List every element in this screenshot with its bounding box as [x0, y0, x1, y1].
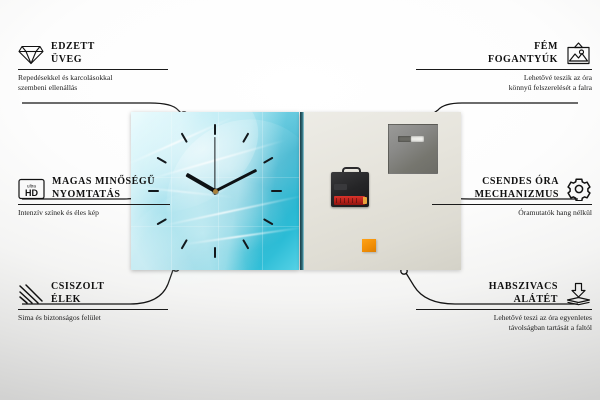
- clock-minute-hand: [214, 169, 256, 193]
- divider: [416, 309, 592, 310]
- divider: [18, 204, 170, 205]
- clock-hour-hand: [185, 173, 216, 193]
- callout-desc: Repedésekkel és karcolásokkal szembeni e…: [18, 73, 168, 92]
- clock-tick: [263, 157, 274, 164]
- callout-polished-edges: CSISZOLT ÉLEK Sima és biztonságos felüle…: [18, 281, 168, 323]
- callout-silent-mechanism: CSENDES ÓRA MECHANIZMUS Óramutatók hang …: [432, 176, 592, 218]
- glass-edge: [300, 112, 304, 270]
- clock-tick: [156, 157, 167, 164]
- callout-title: FÉM FOGANTYÚK: [488, 41, 558, 66]
- callout-desc: Lehetővé teszik az óra könnyű felszerelé…: [416, 73, 592, 92]
- callout-foam-spacer: HABSZIVACS ALÁTÉT Lehetővé teszi az óra …: [416, 281, 592, 332]
- callout-desc: Óramutatók hang nélkül: [432, 208, 592, 218]
- clock-tick: [181, 132, 188, 143]
- divider: [18, 309, 168, 310]
- callout-metal-handles: FÉM FOGANTYÚK Lehetővé teszik az óra kön…: [416, 41, 592, 92]
- hanging-picture-frame-icon: [565, 42, 592, 66]
- callout-high-quality-print: ultra HD MAGAS MINŐSÉGŰ NYOMTATÁS Intenz…: [18, 176, 170, 218]
- callout-title: CSISZOLT ÉLEK: [51, 281, 105, 306]
- quartz-clock-mechanism: [331, 167, 369, 207]
- clock-tick: [263, 218, 274, 225]
- metal-hanger-plate: [388, 124, 438, 174]
- clock-tick: [181, 239, 188, 250]
- battery-label: [336, 198, 360, 203]
- infographic-canvas: EDZETT ÜVEG Repedésekkel és karcolásokka…: [0, 0, 600, 400]
- clock-tick: [214, 124, 216, 135]
- clock-tick: [242, 239, 249, 250]
- callout-title: MAGAS MINŐSÉGŰ NYOMTATÁS: [52, 176, 155, 201]
- clock-second-hand: [214, 137, 215, 195]
- callout-title: HABSZIVACS ALÁTÉT: [489, 281, 558, 306]
- divider: [432, 204, 592, 205]
- mechanism-body: [331, 172, 369, 207]
- ultra-hd-icon: ultra HD: [18, 177, 45, 201]
- callout-desc: Lehetővé teszi az óra egyenletes távolsá…: [416, 313, 592, 332]
- aa-battery: [334, 196, 365, 205]
- mechanism-notch: [334, 184, 347, 190]
- callout-title: EDZETT ÜVEG: [51, 41, 95, 66]
- orange-foam-pad: [362, 239, 376, 252]
- callout-desc: Intenzív színek és éles kép: [18, 208, 170, 218]
- callout-title: CSENDES ÓRA MECHANIZMUS: [475, 176, 559, 201]
- battery-positive-tip: [363, 197, 367, 204]
- hanger-slot: [398, 136, 424, 142]
- diagonal-lines-icon: [18, 283, 44, 305]
- clock-center-hub: [213, 189, 218, 194]
- diamond-icon: [18, 43, 44, 65]
- divider: [18, 69, 168, 70]
- divider: [416, 69, 592, 70]
- arrow-onto-pad-icon: [565, 282, 592, 306]
- svg-text:HD: HD: [25, 188, 38, 198]
- callout-tempered-glass: EDZETT ÜVEG Repedésekkel és karcolásokka…: [18, 41, 168, 92]
- product-image: [131, 112, 461, 270]
- clock-tick: [156, 218, 167, 225]
- clock-tick: [214, 247, 216, 258]
- clock-tick: [242, 132, 249, 143]
- callout-desc: Sima és biztonságos felület: [18, 313, 168, 323]
- clock-tick: [271, 190, 282, 192]
- gear-icon: [566, 177, 592, 201]
